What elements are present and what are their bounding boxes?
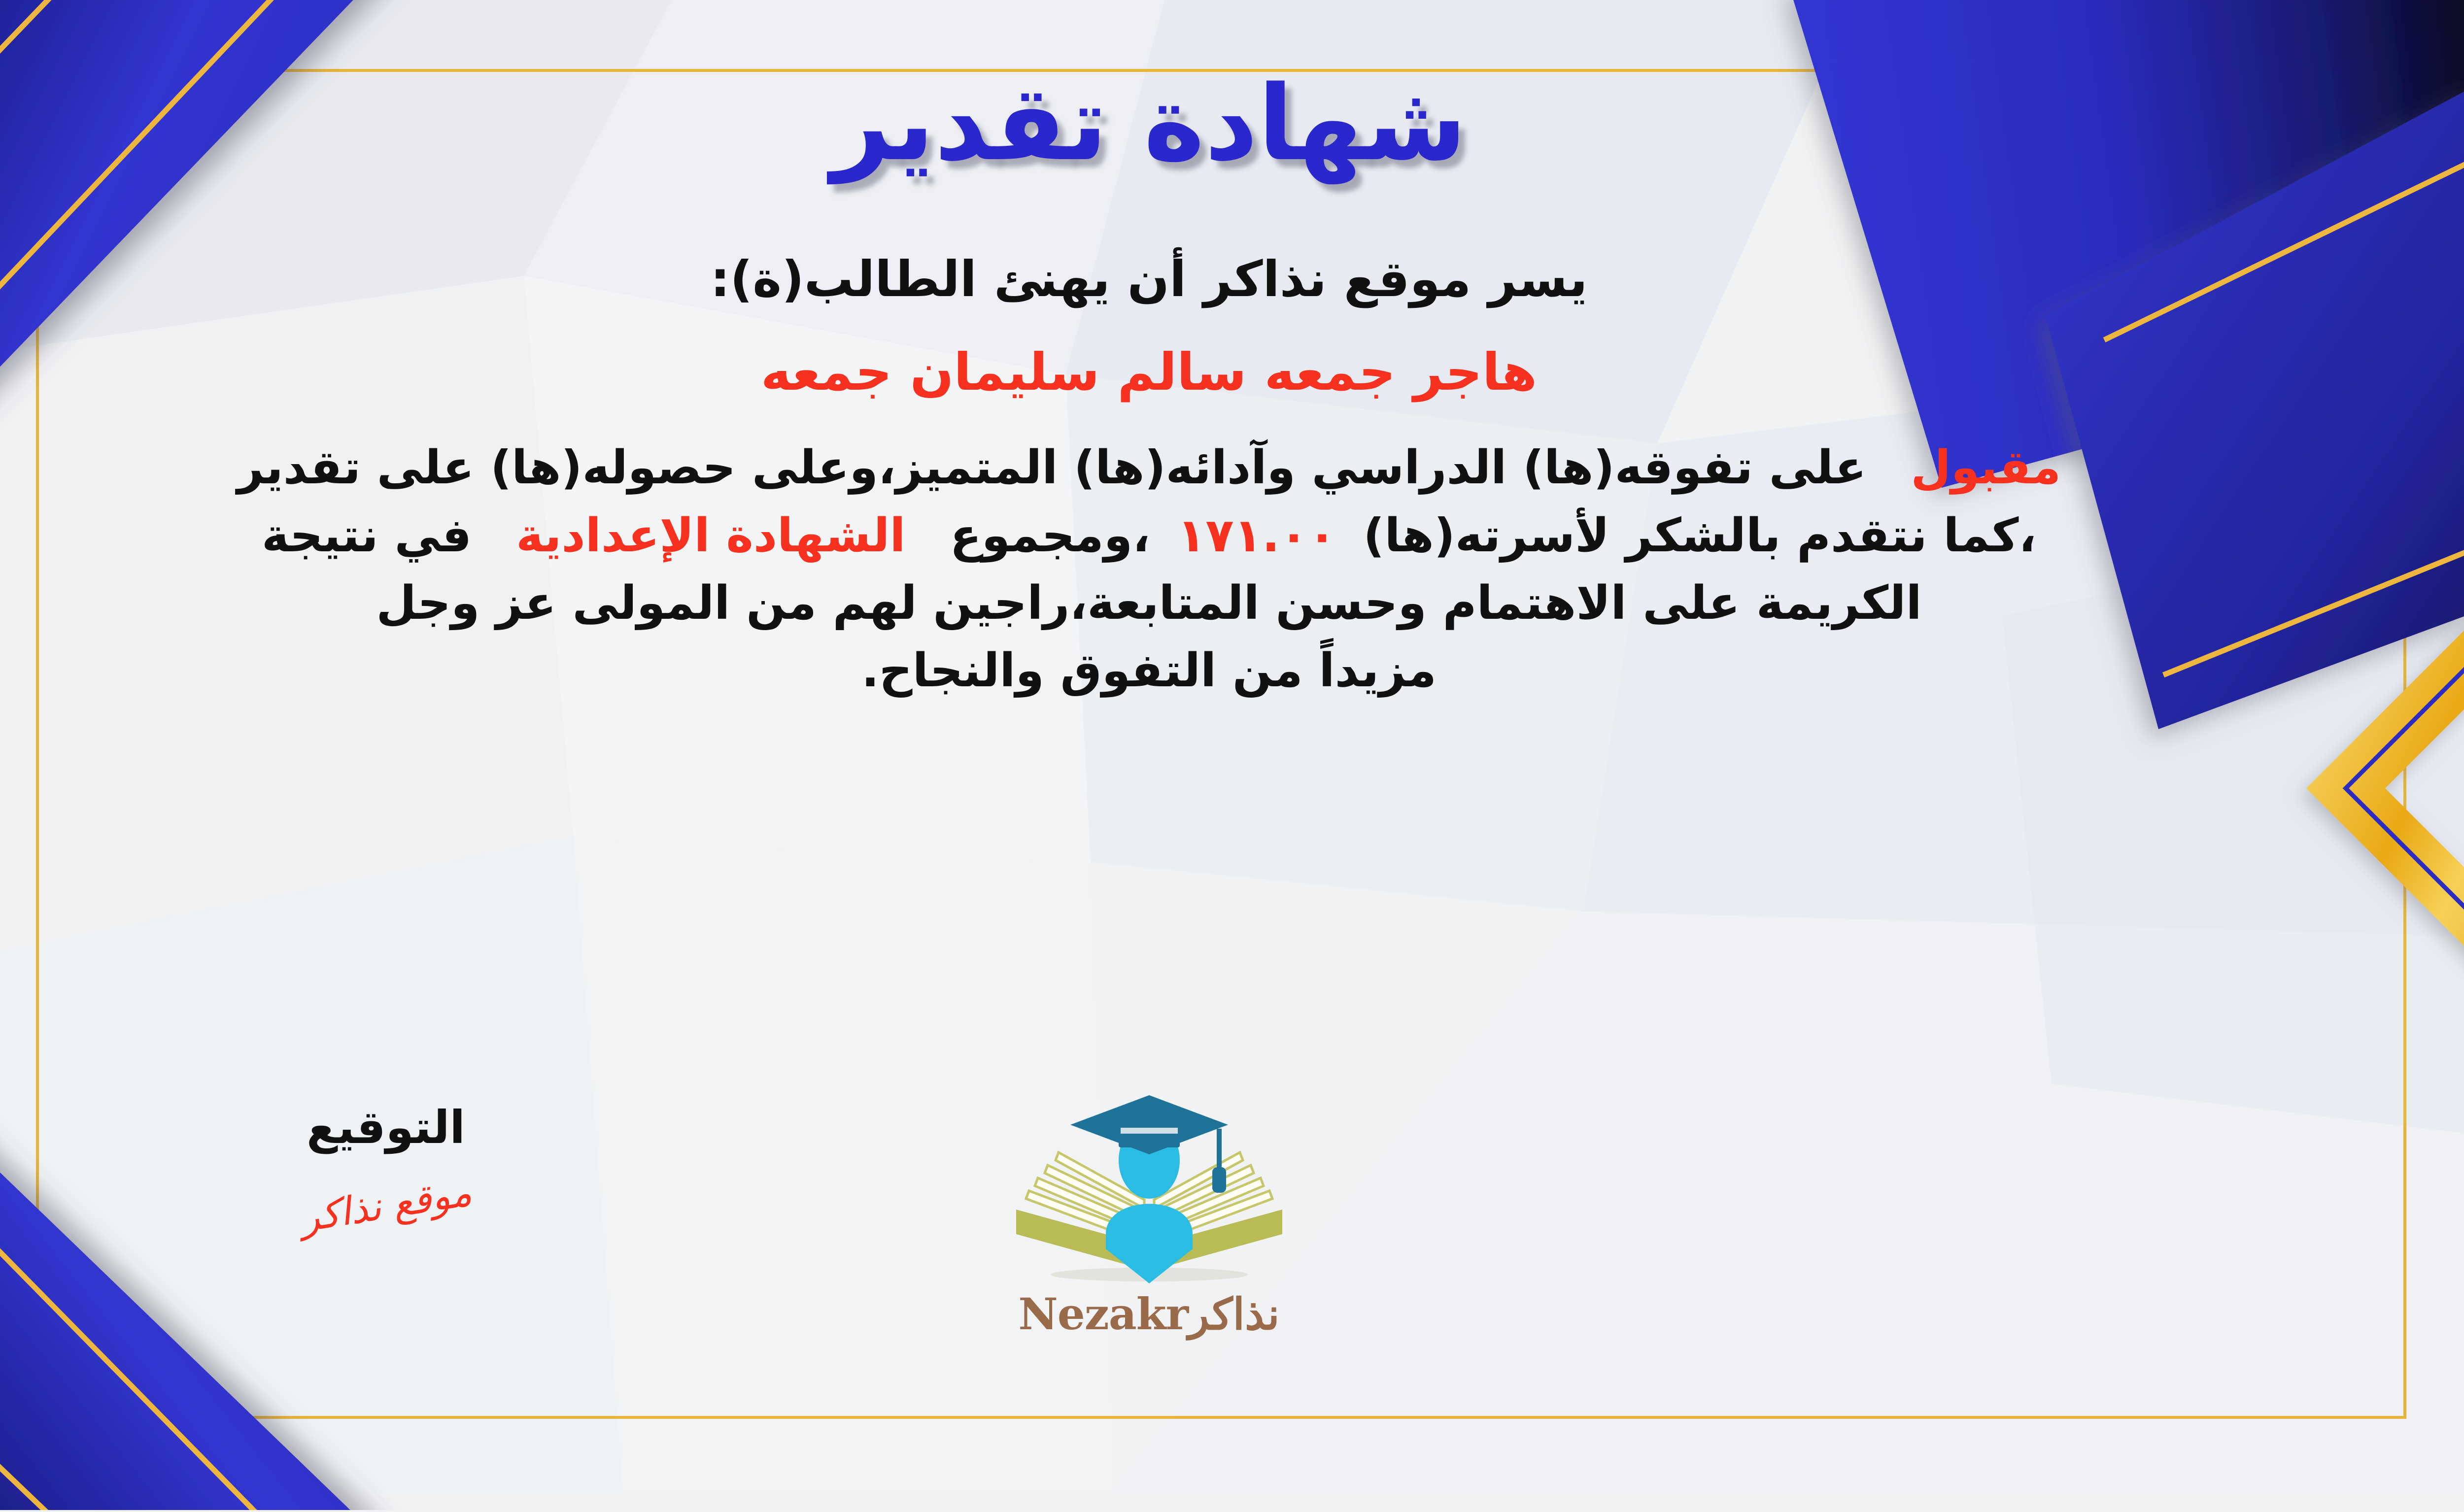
achievement-text: على تفوقه(ها) الدراسي وآدائه(ها) المتميز… bbox=[237, 434, 1866, 502]
signature-mark: موقع نذاكر bbox=[297, 1170, 475, 1241]
result-line: ،كما نتقدم بالشكر لأسرته(ها) ١٧١.٠٠ ،ومج… bbox=[119, 502, 2179, 570]
family-thanks-text: ،كما نتقدم بالشكر لأسرته(ها) bbox=[1363, 502, 2036, 570]
exam-name: الشهادة الإعدادية bbox=[516, 502, 905, 570]
gratitude-line: الكريمة على الاهتمام وحسن المتابعة،راجين… bbox=[119, 570, 2179, 637]
certificate-title: شهادة تقدير bbox=[0, 59, 2464, 187]
signature-block: التوقيع موقع نذاكر bbox=[208, 1101, 563, 1228]
achievement-line: مقبول على تفوقه(ها) الدراسي وآدائه(ها) ا… bbox=[119, 434, 2179, 502]
intro-line: يسر موقع نذاكر أن يهنئ الطالب(ة): bbox=[119, 246, 2179, 312]
logo-wordmark: نذاكرNezakr bbox=[937, 1288, 1361, 1340]
total-label: ،ومجموع bbox=[950, 502, 1150, 570]
total-score: ١٧١.٠٠ bbox=[1177, 502, 1336, 570]
certificate-footer: التوقيع موقع نذاكر bbox=[0, 1101, 2464, 1416]
closing-line: مزيداً من التفوق والنجاح. bbox=[119, 637, 2179, 705]
signature-label: التوقيع bbox=[208, 1101, 563, 1154]
grade-value: مقبول bbox=[1911, 434, 2061, 502]
student-name: هاجر جمعه سالم سليمان جمعه bbox=[119, 338, 2179, 406]
logo-wordmark-en: Nezakr bbox=[1018, 1288, 1188, 1340]
graduation-book-logo-icon bbox=[996, 1086, 1302, 1293]
site-logo: نذاكرNezakr bbox=[937, 1086, 1361, 1340]
certificate-title-text: شهادة تقدير bbox=[831, 63, 1467, 184]
certificate-text-block: يسر موقع نذاكر أن يهنئ الطالب(ة): هاجر ج… bbox=[119, 246, 2179, 705]
logo-wordmark-ar: نذاكر bbox=[1188, 1288, 1280, 1340]
result-label: في نتيجة bbox=[262, 502, 472, 570]
